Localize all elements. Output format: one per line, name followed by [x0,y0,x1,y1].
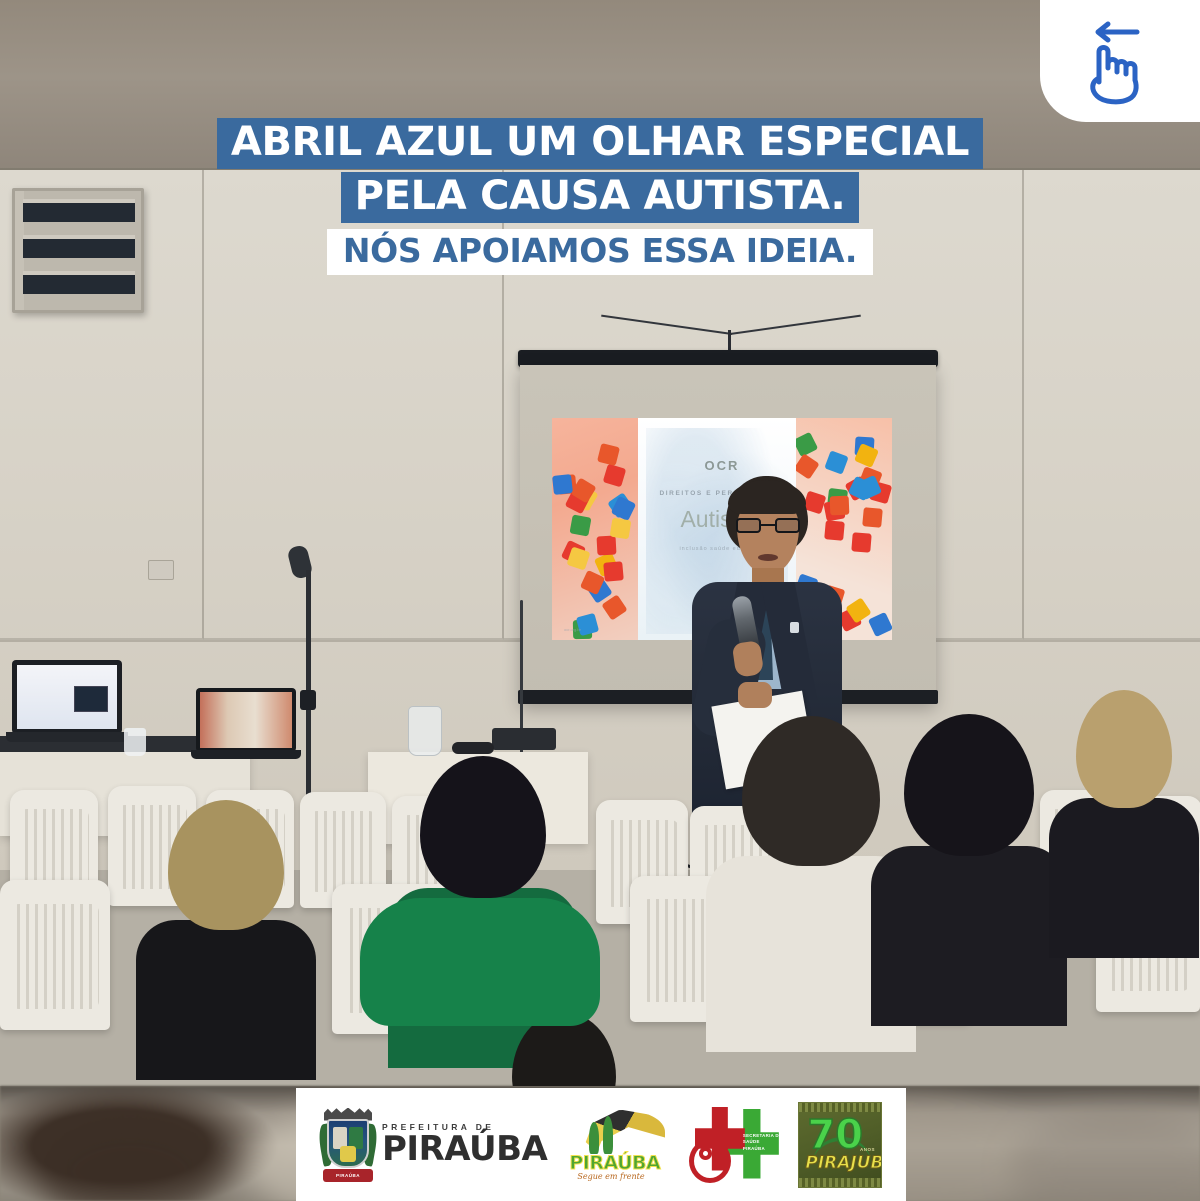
headline-line-2: PELA CAUSA AUTISTA. [341,172,860,223]
social-post-canvas: OCR DIREITOS E PERSPECTIVAS Autismo incl… [0,0,1200,1201]
plastic-chair [0,880,110,1030]
hair-bow [360,898,600,1026]
cup [124,728,146,756]
laptop-left [12,660,122,744]
audience-shoulders [136,920,316,1080]
logo-piraúba-verde: PIRAÚBA Segue em frente [563,1104,670,1186]
eyeglasses-on-table [452,742,494,754]
mic-stand [306,570,311,800]
puzzle-piece-icon [868,612,892,637]
headline-line-3: NÓS APOIAMOS ESSA IDEIA. [327,229,873,275]
puzzle-piece-icon [796,432,818,458]
crest-ribbon-label: PIRAÚBA [323,1169,373,1182]
blur-blob [40,1116,220,1201]
headline-line-1: ABRIL AZUL UM OLHAR ESPECIAL [217,118,983,169]
headline-block: ABRIL AZUL UM OLHAR ESPECIAL PELA CAUSA … [0,118,1200,275]
logo2-tagline: Segue em frente [577,1172,644,1181]
mic-clamp [300,690,316,710]
anniversary-city-label: PIRAJUBA [805,1153,882,1173]
logo2-word: PIRAÚBA [569,1152,660,1174]
logo3-label: SECRETARIA DE SAÚDE PIRAÚBA [743,1133,783,1153]
swipe-left-badge[interactable] [1040,0,1200,122]
lapel-pin [790,622,799,633]
audience-shoulders [871,846,1067,1026]
anniversary-anos-label: ANOS [860,1147,875,1152]
anniversary-number: 70 [807,1115,863,1155]
logo-bar: PIRAÚBA PREFEITURA DE PIRAÚBA PIRAÚBA Se… [296,1088,906,1201]
prefeitura-main-label: PIRAÚBA [382,1132,547,1166]
eyeglasses-icon [736,518,800,533]
slide-footer: ocr.org.br [564,627,581,632]
water-pitcher [408,706,442,756]
logo-prefeitura-pirauba: PIRAÚBA PREFEITURA DE PIRAÚBA [320,1108,547,1182]
logo-secretaria-saude: SECRETARIA DE SAÚDE PIRAÚBA [687,1103,783,1187]
equipment-box [492,728,556,750]
wall-outlet [148,560,174,580]
laptop-center [196,688,296,762]
puzzle-piece-icon [576,613,599,636]
audience-shoulders [1049,798,1199,958]
puzzle-piece-icon [603,561,624,582]
blur-blob [1010,1110,1200,1201]
coat-of-arms-icon: PIRAÚBA [320,1108,376,1182]
swipe-left-hand-icon [1077,16,1163,106]
logo-70-anos: 70 ANOS PIRAJUBA [798,1102,882,1188]
